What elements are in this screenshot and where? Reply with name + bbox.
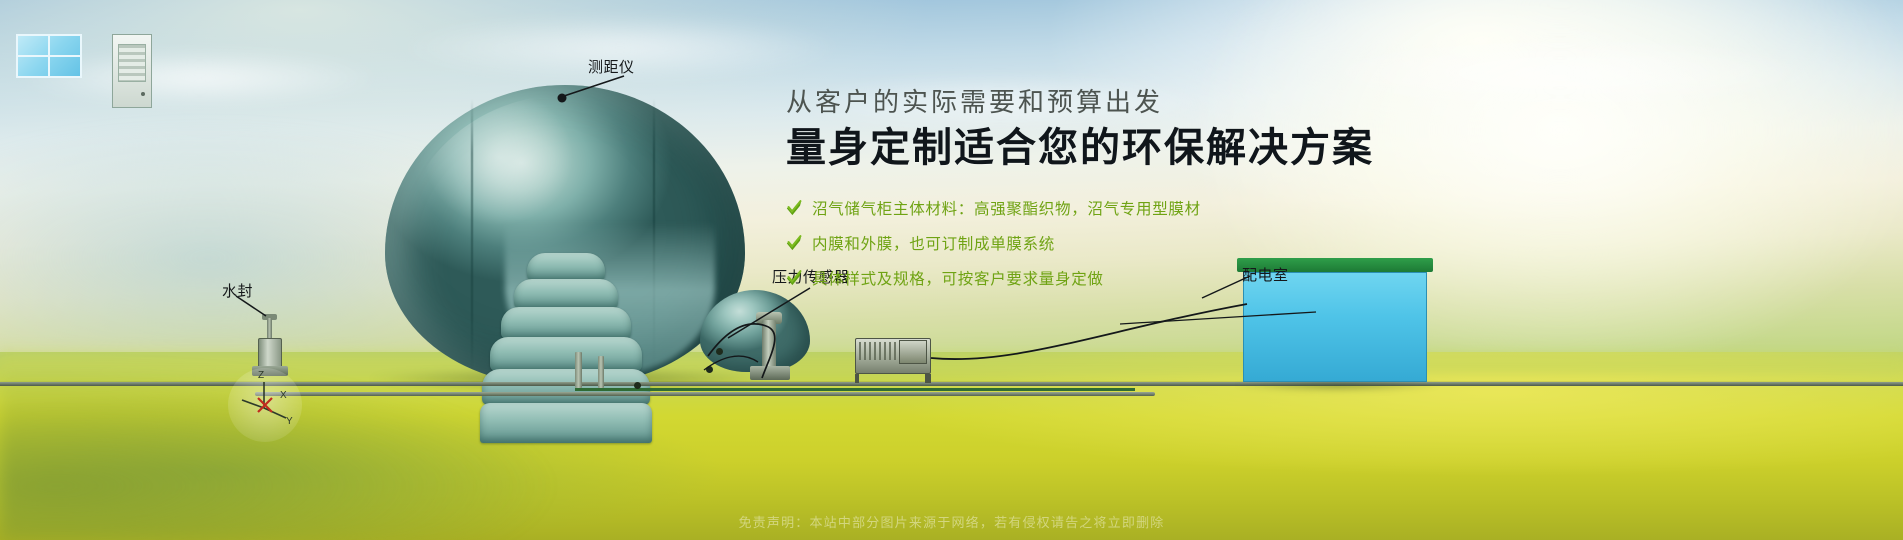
pipe-riser <box>598 356 604 388</box>
gizmo-z-label: Z <box>258 370 264 381</box>
sensor-node <box>634 382 641 389</box>
membrane-step <box>501 307 631 339</box>
feature-bullet-text: 内膜和外膜，也可订制成单膜系统 <box>812 232 1055 254</box>
pressure-sensor-base <box>750 366 790 380</box>
copy-subtitle: 从客户的实际需要和预算出发 <box>786 82 1486 119</box>
gizmo-x-label: X <box>280 390 287 401</box>
house-window <box>16 34 82 78</box>
compressor-module <box>899 340 927 364</box>
check-mark-icon <box>786 199 803 216</box>
check-mark-icon <box>786 234 803 251</box>
feature-bullet-item: 内膜和外膜，也可订制成单膜系统 <box>786 227 1486 258</box>
house-door-handle <box>141 92 145 96</box>
water-seal-stem <box>267 318 272 340</box>
hero-banner-scene: 测距仪 水封 压力传感器 配电室 Z Y X 从客户的实际需要和预算出发 量身定… <box>0 0 1903 540</box>
compressor-legs <box>855 374 931 383</box>
water-seal-body <box>258 338 282 368</box>
footer-disclaimer: 免责声明：本站中部分图片来源于网络，若有侵权请告之将立即删除 <box>0 512 1903 531</box>
pressure-sensor-unit <box>748 320 792 382</box>
sensor-node <box>706 366 713 373</box>
membrane-step <box>480 403 652 443</box>
green-gas-line <box>575 388 1135 391</box>
dome-seam-left <box>471 99 473 369</box>
compressor-vents <box>859 342 899 360</box>
house-door-panel <box>118 44 146 82</box>
biogas-storage-dome <box>385 85 745 385</box>
feature-bullet-text: 沼气储气柜主体材料：高强聚酯织物，沼气专用型膜材 <box>812 197 1201 219</box>
buried-pipeline <box>255 392 1155 396</box>
marketing-copy-panel: 从客户的实际需要和预算出发 量身定制适合您的环保解决方案 沼气储气柜主体材料：高… <box>786 82 1486 297</box>
membrane-step <box>514 279 618 309</box>
dome-inner-membrane-stack <box>480 253 652 439</box>
pipe-riser <box>575 352 582 388</box>
feature-bullet-item: 具体样式及规格，可按客户要求量身定做 <box>786 262 1486 293</box>
label-rangefinder: 测距仪 <box>588 60 635 77</box>
sensor-node <box>716 348 723 355</box>
feature-bullet-text: 具体样式及规格，可按客户要求量身定做 <box>812 267 1104 289</box>
feature-bullet-item: 沼气储气柜主体材料：高强聚酯织物，沼气专用型膜材 <box>786 192 1486 223</box>
copy-headline: 量身定制适合您的环保解决方案 <box>786 125 1486 172</box>
membrane-step <box>490 337 642 371</box>
label-water-seal: 水封 <box>222 284 253 301</box>
axis-orientation-gizmo: Z Y X <box>228 368 302 442</box>
membrane-step <box>527 253 605 281</box>
pressure-sensor-column <box>762 320 776 368</box>
gizmo-y-label: Y <box>286 416 293 427</box>
membrane-step <box>482 369 650 405</box>
feature-bullet-list: 沼气储气柜主体材料：高强聚酯织物，沼气专用型膜材 内膜和外膜，也可订制成单膜系统… <box>786 192 1486 293</box>
check-mark-icon <box>786 269 803 286</box>
